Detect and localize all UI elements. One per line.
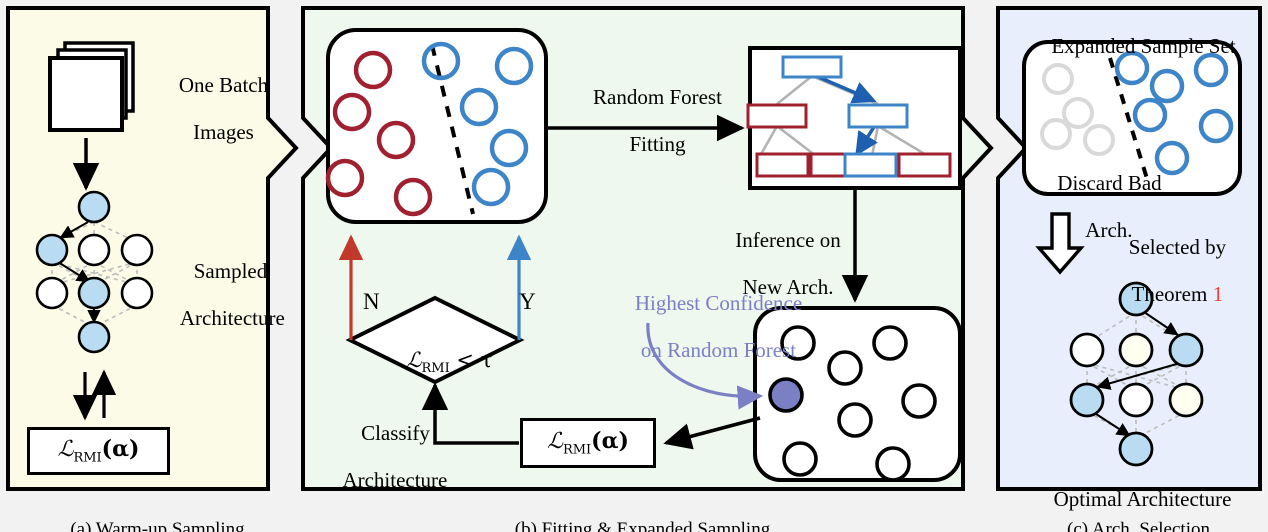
figure-root: One Batch Images Sampled Architecture ℒR…	[0, 0, 1268, 532]
caption-panel-c: (c) Arch. Selection	[998, 498, 1260, 532]
selected-by-theorem-label: Selected by Theorem 1	[1092, 212, 1242, 330]
theorem-number: 1	[1213, 282, 1224, 306]
caption-panel-b: (b) Fitting & Expanded Sampling	[303, 498, 963, 532]
expanded-sample-set-title: Expanded Sample Set	[1018, 11, 1248, 82]
caption-panel-a: (a) Warm-up Sampling	[8, 498, 288, 532]
